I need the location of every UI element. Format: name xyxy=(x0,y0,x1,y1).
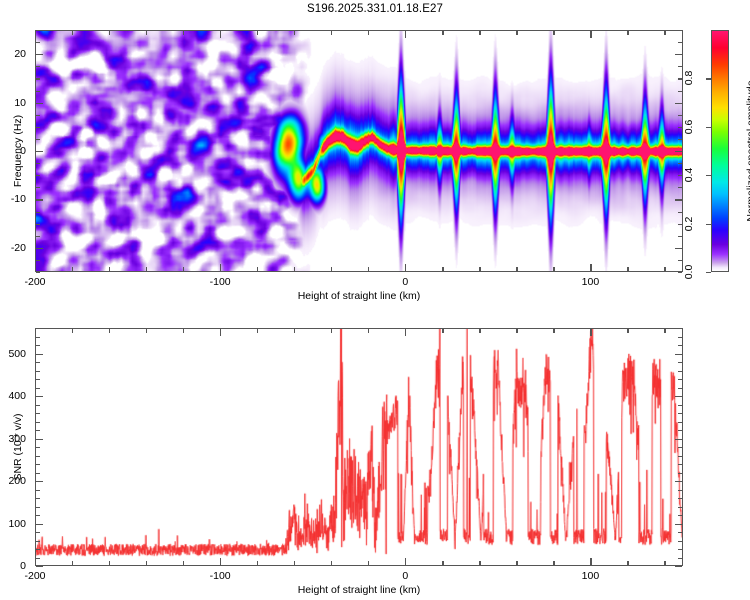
spectrogram-image xyxy=(36,31,682,271)
colorbar-tick-label: 0.8 xyxy=(683,71,695,86)
colorbar-title: Normalized spectral amplitude xyxy=(745,80,750,221)
page-title: S196.2025.331.01.18.E27 xyxy=(0,3,750,15)
spectrogram-plot xyxy=(35,30,683,272)
spectrogram-ytick-label: 10 xyxy=(0,97,26,109)
minor-tick-y xyxy=(36,272,40,273)
snr-xtick-label: 100 xyxy=(582,570,600,582)
colorbar-tick-label: 0.2 xyxy=(683,216,695,231)
spectrogram-xtick-label: 100 xyxy=(582,276,600,288)
snr-ytick-label: 0 xyxy=(0,560,26,572)
figure: S196.2025.331.01.18.E27 -200-1000100-20-… xyxy=(0,0,750,600)
snr-xtick-label: -100 xyxy=(210,570,231,582)
snr-xtick-label: 0 xyxy=(402,570,408,582)
snr-ytick-label: 100 xyxy=(0,518,26,530)
colorbar-tick-label: 0.6 xyxy=(683,119,695,134)
minor-tick-y xyxy=(678,272,682,273)
spectrogram-xtick-label: 0 xyxy=(402,276,408,288)
spectrogram-xaxis-title: Height of straight line (km) xyxy=(298,290,421,302)
snr-ytick-label: 200 xyxy=(0,475,26,487)
snr-ytick-label: 400 xyxy=(0,390,26,402)
snr-ytick-label: 300 xyxy=(0,433,26,445)
snr-xaxis-title: Height of straight line (km) xyxy=(298,584,421,596)
colorbar-tick-label: 0.0 xyxy=(683,265,695,280)
spectrogram-ytick-label: -10 xyxy=(0,193,26,205)
spectrogram-ytick-label: 20 xyxy=(0,48,26,60)
colorbar-tick-label: 0.4 xyxy=(683,168,695,183)
colorbar-gradient xyxy=(711,30,729,272)
spectrogram-ytick-label: 0 xyxy=(0,145,26,157)
snr-plot xyxy=(35,328,683,566)
snr-line-series xyxy=(36,329,682,565)
spectrogram-ytick-label: -20 xyxy=(0,242,26,254)
colorbar xyxy=(711,30,729,272)
spectrogram-xtick-label: -200 xyxy=(24,276,45,288)
spectrogram-yaxis-title: Frequency (Hz) xyxy=(12,115,24,187)
snr-xtick-label: -200 xyxy=(24,570,45,582)
snr-ytick-label: 500 xyxy=(0,348,26,360)
colorbar-tick xyxy=(706,272,711,273)
minor-tick-y xyxy=(678,566,682,567)
minor-tick-y xyxy=(36,566,40,567)
major-tick-y xyxy=(675,566,682,567)
spectrogram-xtick-label: -100 xyxy=(210,276,231,288)
snr-yaxis-title: SNR (10 * v/v) xyxy=(12,413,24,480)
major-tick-y xyxy=(36,566,43,567)
